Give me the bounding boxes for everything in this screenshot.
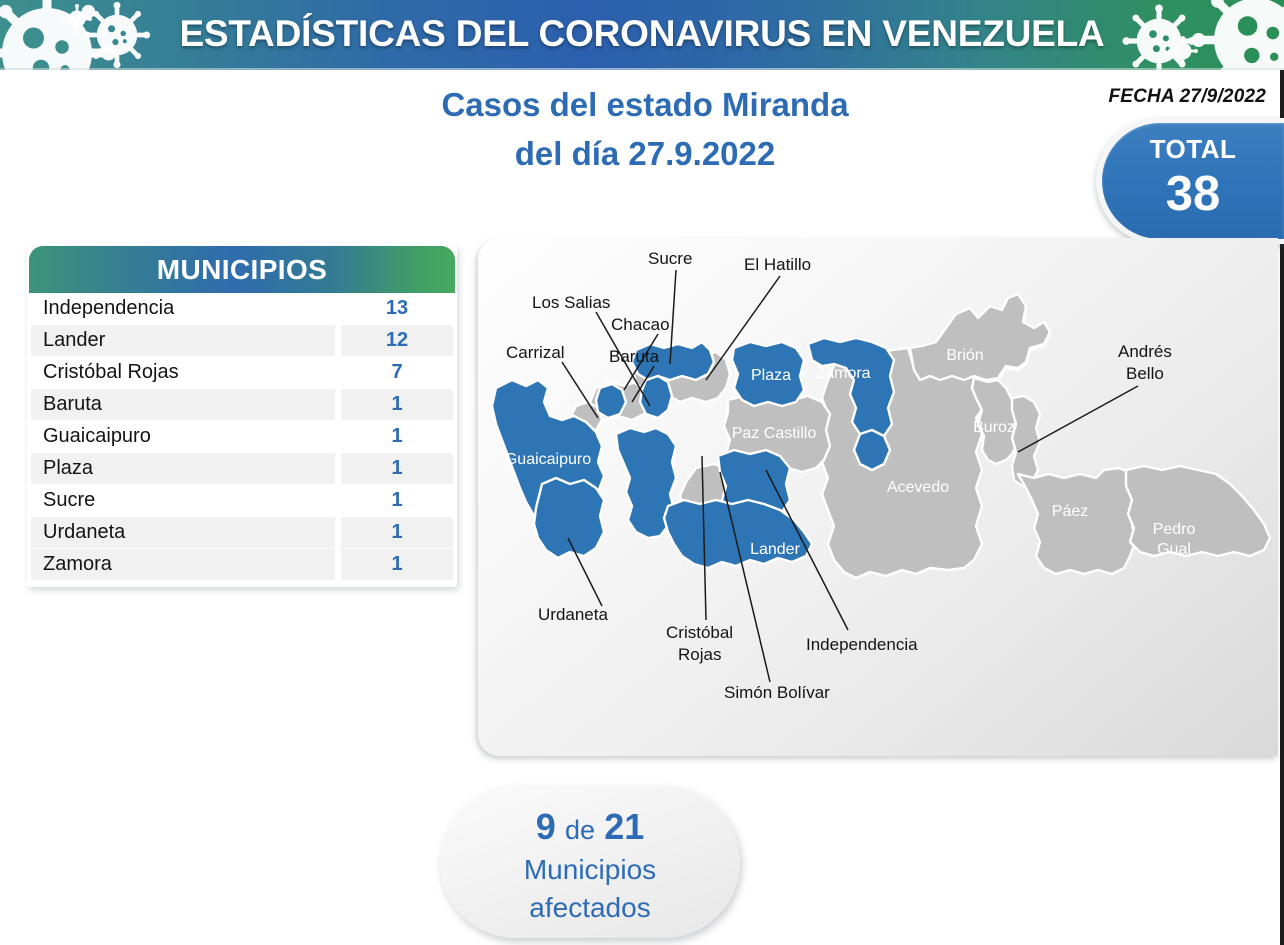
map-label-guaicaipuro: Guaicaipuro (505, 451, 591, 468)
page-title: Casos del estado Miranda del día 27.9.20… (300, 80, 990, 178)
map-region-zamora-tail (854, 430, 890, 470)
table-row: Sucre 1 (31, 485, 453, 516)
miranda-map: Plaza Zamora Paz Castillo Guaicaipuro La… (478, 238, 1278, 756)
map-callout-rojas: Rojas (678, 645, 721, 664)
miranda-map-panel: Plaza Zamora Paz Castillo Guaicaipuro La… (478, 238, 1278, 756)
table-cell-count: 1 (341, 421, 453, 452)
map-region-los-salias (596, 384, 626, 418)
table-cell-count: 1 (341, 453, 453, 484)
total-badge-body: TOTAL 38 (1102, 123, 1284, 239)
date-label: FECHA 27/9/2022 (1108, 86, 1266, 108)
table-cell-municipio: Baruta (31, 389, 335, 420)
map-label-brion: Brión (946, 347, 983, 364)
municipios-table-header: MUNICIPIOS (29, 246, 455, 293)
table-cell-municipio: Cristóbal Rojas (31, 357, 335, 388)
table-cell-municipio: Guaicaipuro (31, 421, 335, 452)
affected-total: 21 (604, 806, 644, 847)
map-label-pedro-gual-line2: Gual (1157, 541, 1191, 558)
table-cell-municipio: Independencia (31, 293, 335, 324)
map-region-brion (910, 294, 1050, 380)
total-value: 38 (1102, 167, 1284, 221)
table-cell-municipio: Lander (31, 325, 335, 356)
map-callout-carrizal: Carrizal (506, 343, 565, 362)
table-row: Cristóbal Rojas 7 (31, 357, 453, 388)
map-callout-el-hatillo: El Hatillo (744, 255, 811, 274)
table-row: Zamora 1 (31, 549, 453, 580)
map-label-plaza: Plaza (751, 367, 791, 384)
map-region-paez (1018, 468, 1138, 574)
table-row: Baruta 1 (31, 389, 453, 420)
map-callout-los-salias: Los Salias (532, 293, 610, 312)
affected-line2: Municipios (440, 851, 740, 889)
map-callout-baruta: Baruta (609, 347, 660, 366)
affected-de-word: de (565, 815, 595, 845)
table-cell-count: 1 (341, 549, 453, 580)
map-label-zamora: Zamora (815, 365, 870, 382)
map-region-urdaneta (534, 478, 604, 558)
map-label-acevedo: Acevedo (887, 479, 949, 496)
table-cell-municipio: Plaza (31, 453, 335, 484)
map-callout-andres: Andrés (1118, 342, 1172, 361)
map-region-pedro-gual (1126, 466, 1270, 556)
banner-bottom-edge (0, 68, 1284, 70)
map-label-paz-castillo: Paz Castillo (732, 425, 817, 442)
table-cell-municipio: Urdaneta (31, 517, 335, 548)
map-callout-simon-bolivar: Simón Bolívar (724, 683, 830, 702)
affected-count-line: 9 de 21 (440, 786, 740, 851)
page-title-line1: Casos del estado Miranda (300, 80, 990, 129)
table-cell-municipio: Sucre (31, 485, 335, 516)
table-cell-count: 1 (341, 389, 453, 420)
map-label-paez: Páez (1052, 503, 1088, 520)
map-label-pedro-gual-line1: Pedro (1153, 521, 1196, 538)
map-callout-chacao: Chacao (611, 315, 670, 334)
map-callout-independencia: Independencia (806, 635, 918, 654)
map-callout-bello: Bello (1126, 364, 1164, 383)
table-cell-count: 7 (341, 357, 453, 388)
table-row: Urdaneta 1 (31, 517, 453, 548)
map-callout-urdaneta: Urdaneta (538, 605, 608, 624)
affected-count: 9 (536, 806, 556, 847)
affected-municipalities-badge: 9 de 21 Municipios afectados (440, 786, 740, 938)
table-cell-count: 12 (341, 325, 453, 356)
affected-line3: afectados (440, 889, 740, 927)
municipios-table: MUNICIPIOS Independencia 13 Lander 12 Cr… (27, 246, 457, 587)
total-label: TOTAL (1102, 123, 1284, 165)
map-label-buroz: Buroz (973, 419, 1015, 436)
page-title-line2: del día 27.9.2022 (300, 129, 990, 178)
map-callout-cristobal: Cristóbal (666, 623, 733, 642)
banner-title: ESTADÍSTICAS DEL CORONAVIRUS EN VENEZUEL… (0, 0, 1284, 70)
table-cell-count: 1 (341, 517, 453, 548)
map-label-lander: Lander (750, 541, 800, 558)
header-banner: ESTADÍSTICAS DEL CORONAVIRUS EN VENEZUEL… (0, 0, 1284, 70)
table-row: Independencia 13 (31, 293, 453, 324)
table-cell-count: 1 (341, 485, 453, 516)
table-cell-municipio: Zamora (31, 549, 335, 580)
total-badge: TOTAL 38 (1096, 118, 1284, 244)
table-cell-count: 13 (341, 293, 453, 324)
table-row: Guaicaipuro 1 (31, 421, 453, 452)
map-callout-sucre: Sucre (648, 249, 692, 268)
map-region-andres-bello (1012, 396, 1040, 486)
table-row: Plaza 1 (31, 453, 453, 484)
table-row: Lander 12 (31, 325, 453, 356)
